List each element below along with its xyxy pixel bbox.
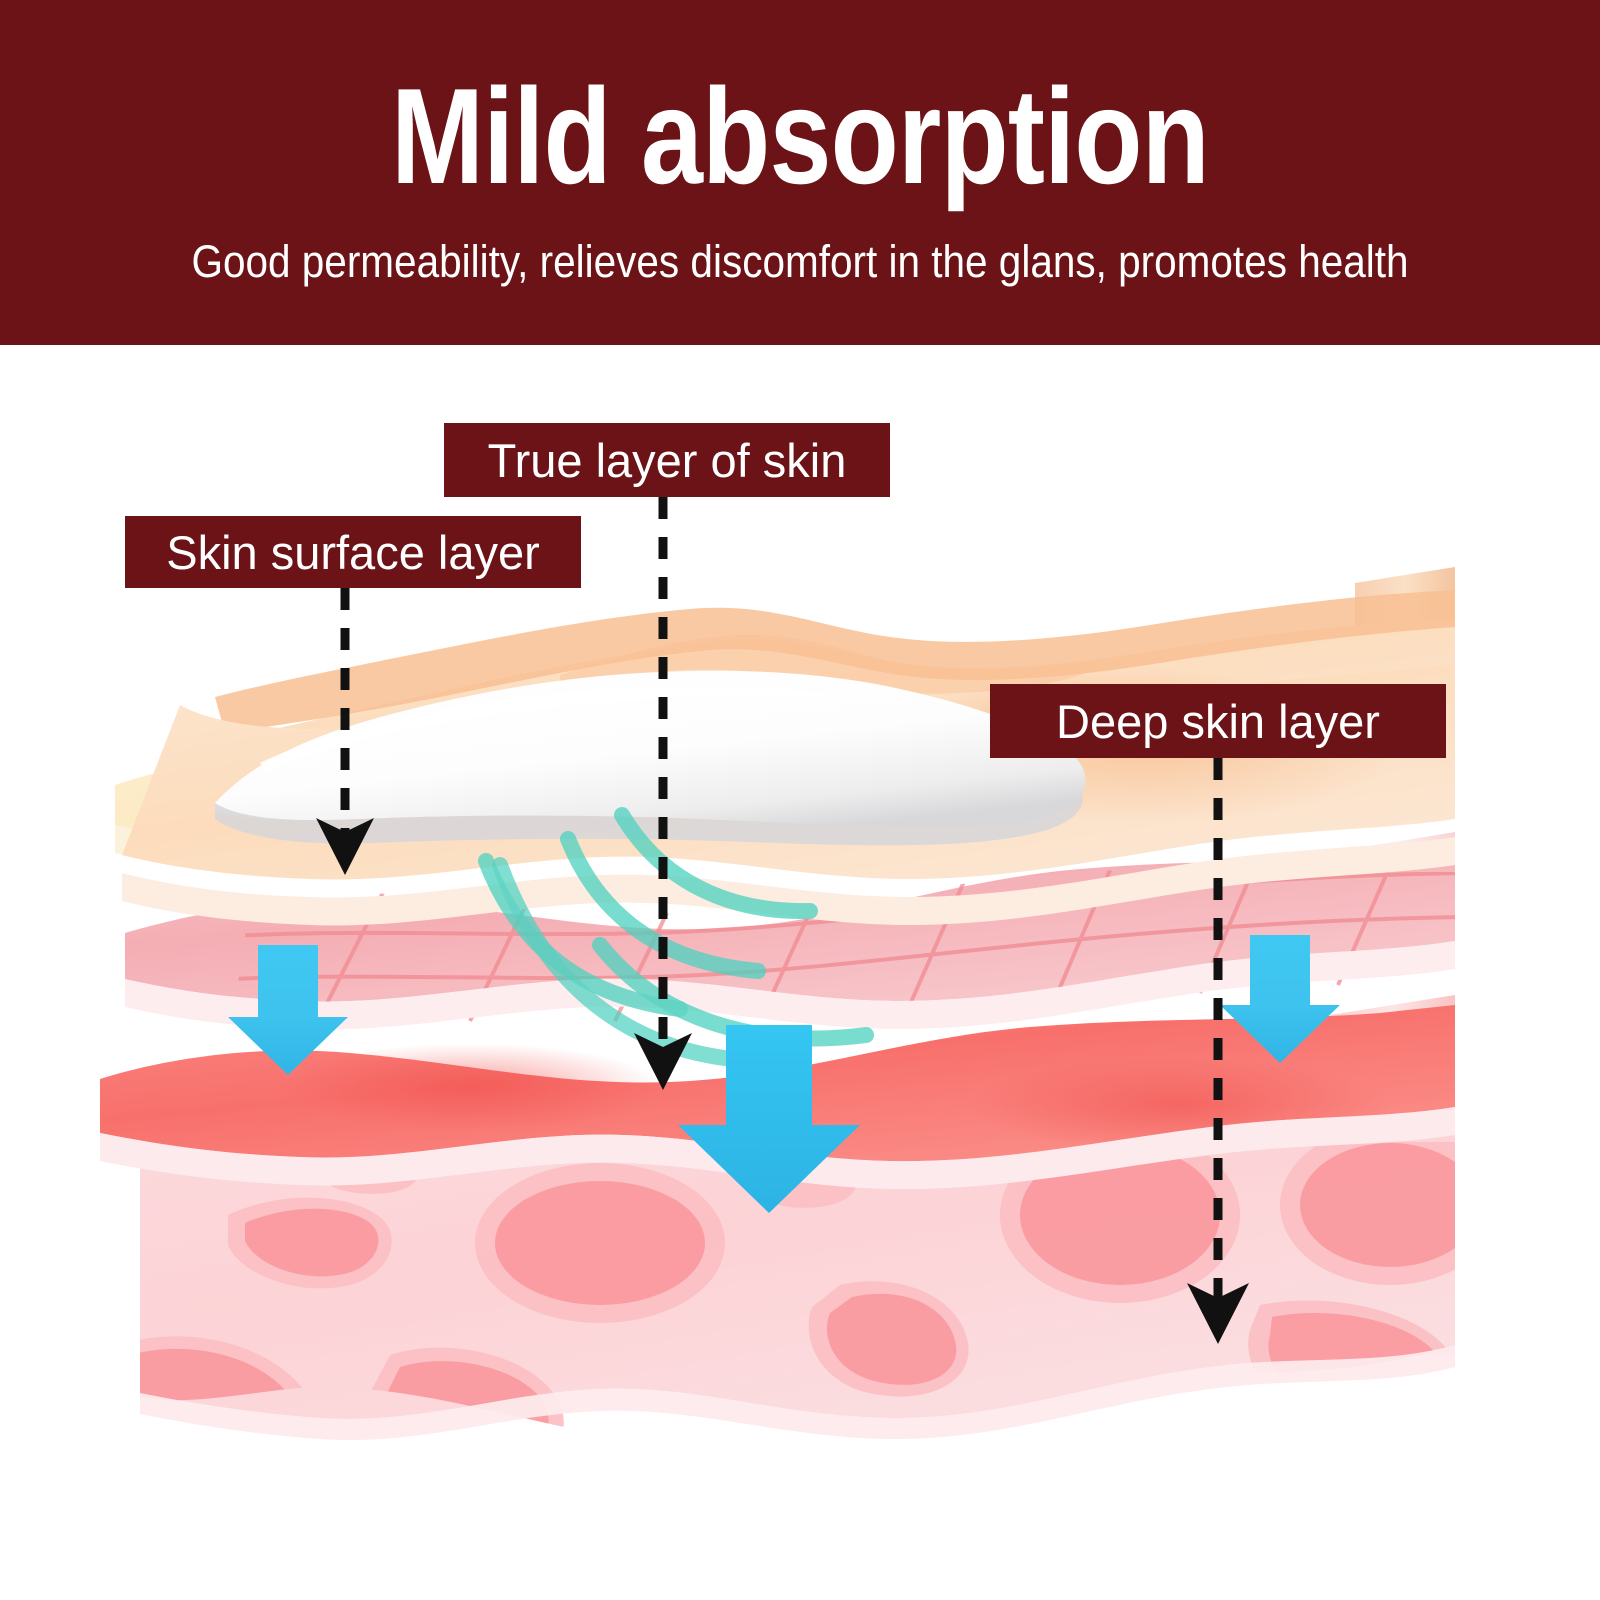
callout-label-text: Skin surface layer	[166, 529, 540, 576]
page-title: Mild absorption	[144, 68, 1456, 204]
callout-skin-surface-layer[interactable]: Skin surface layer	[125, 516, 581, 588]
callout-true-layer-of-skin[interactable]: True layer of skin	[444, 423, 890, 497]
callout-deep-skin-layer[interactable]: Deep skin layer	[990, 684, 1446, 758]
page-subtitle: Good permeability, relieves discomfort i…	[80, 236, 1520, 288]
callout-label-text: Deep skin layer	[1056, 698, 1380, 745]
header-banner: Mild absorption Good permeability, relie…	[0, 0, 1600, 345]
callout-label-text: True layer of skin	[488, 437, 847, 484]
